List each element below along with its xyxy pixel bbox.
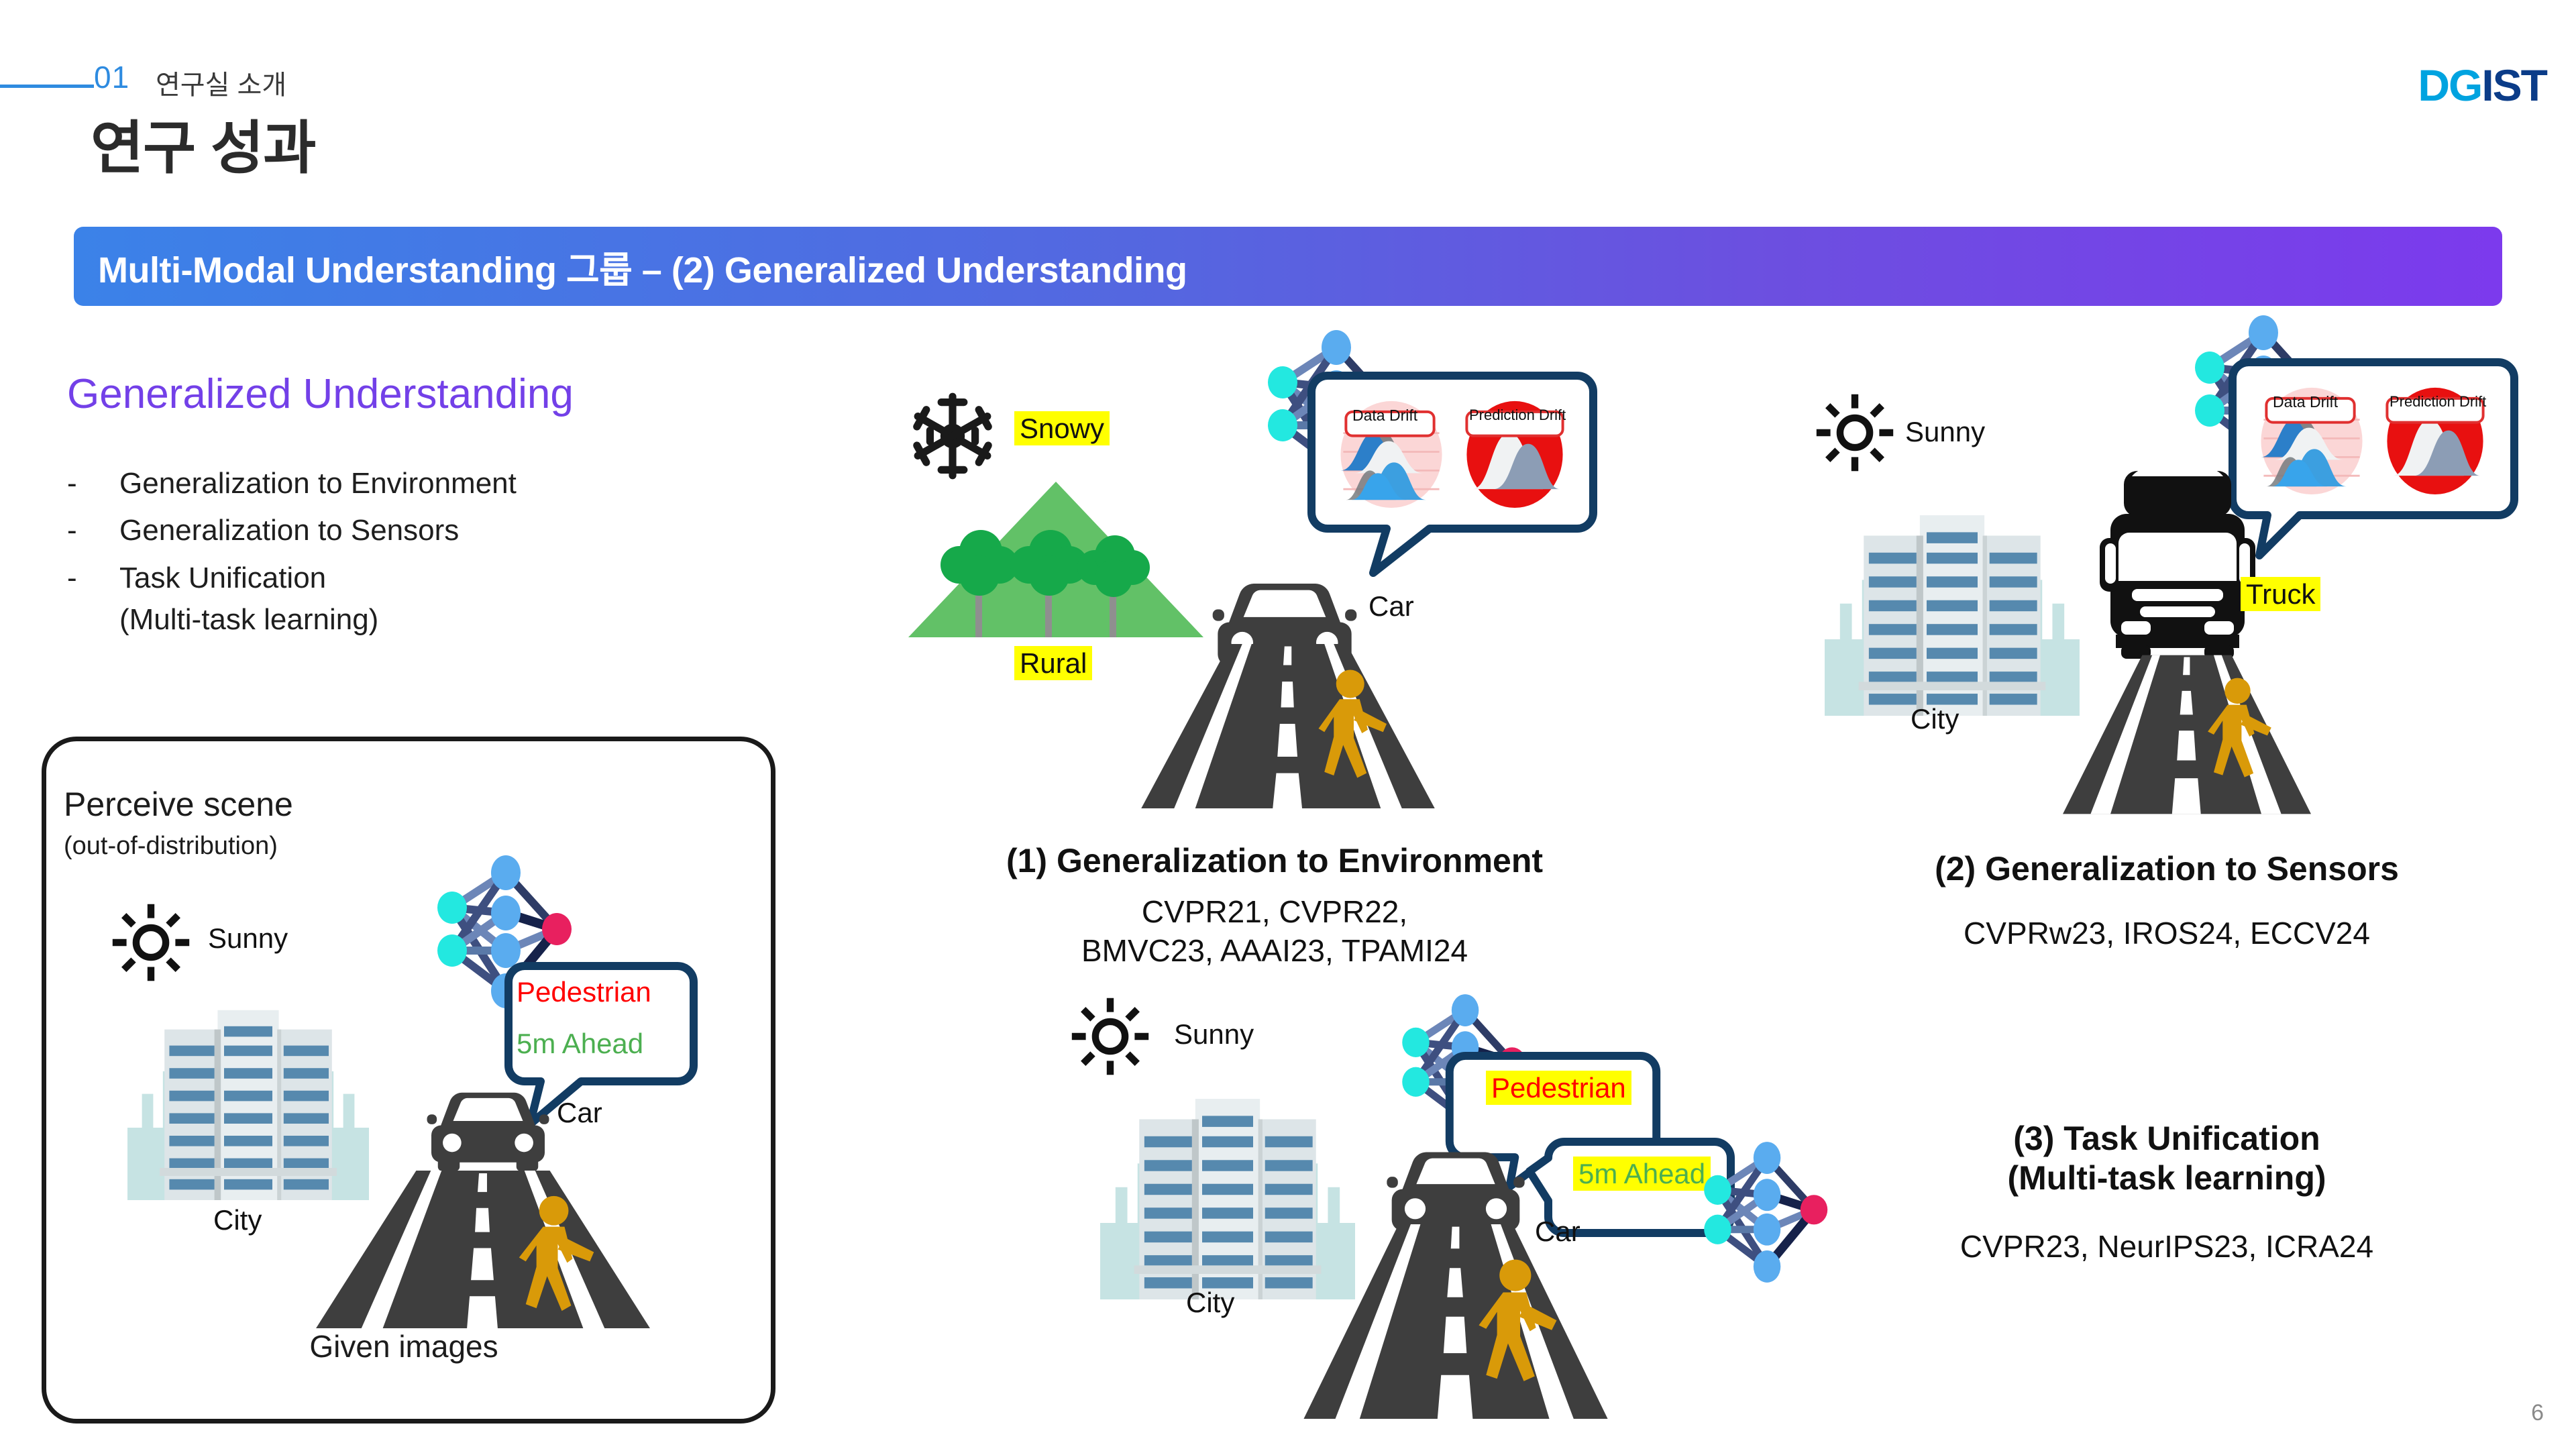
panel1-data-drift-label: Data Drift	[1352, 407, 1417, 425]
dgist-logo: DGIST	[2418, 63, 2546, 107]
generalized-understanding-heading: Generalized Understanding	[67, 370, 574, 418]
bullet-list: - Generalization to Environment - Genera…	[67, 463, 517, 647]
rural-mountain-icon	[906, 476, 1207, 644]
sun-icon	[107, 899, 195, 986]
panel1-weather-label: Snowy	[1014, 413, 1110, 445]
logo-dg-text: DG	[2418, 60, 2481, 110]
panel-bubble-line1: Pedestrian	[517, 976, 651, 1008]
heading-highlight	[67, 414, 698, 443]
panel2-caption-title: (2) Generalization to Sensors	[1838, 849, 2495, 889]
truck-icon	[2086, 463, 2267, 664]
road-icon	[2063, 654, 2311, 815]
panel3-weather-label: Sunny	[1174, 1018, 1254, 1051]
snowflake-icon	[906, 389, 1000, 483]
list-item: - Task Unification (Multi-task learning)	[67, 557, 517, 641]
panel2-vehicle-text: Truck	[2241, 577, 2320, 611]
bullet-dash: -	[67, 510, 119, 551]
slide-root: 01 연구실 소개 연구 성과 DGIST Multi-Modal Unders…	[0, 0, 2576, 1449]
bullet-text: Generalization to Environment	[119, 463, 517, 504]
perceive-scene-title: Perceive scene	[64, 785, 293, 824]
panel-scene-label: City	[213, 1204, 262, 1236]
sun-icon	[1067, 993, 1154, 1080]
logo-ist-text: IST	[2481, 60, 2546, 110]
section-banner: Multi-Modal Understanding 그룹 – (2) Gener…	[74, 227, 2502, 306]
neural-network-icon	[1690, 1134, 1845, 1298]
panel-bubble-line2: 5m Ahead	[517, 1028, 643, 1060]
panel2-scene-label: City	[1911, 703, 1959, 735]
section-label: 연구실 소개	[156, 63, 286, 102]
section-number: 01	[94, 59, 129, 95]
bullet-text: Generalization to Sensors	[119, 510, 459, 551]
road-icon	[1140, 644, 1436, 808]
road-icon	[1301, 1224, 1610, 1419]
panel2-caption-venues: CVPRw23, IROS24, ECCV24	[1838, 914, 2495, 953]
panel1-scene-text: Rural	[1014, 646, 1092, 680]
page-number: 6	[2531, 1400, 2544, 1426]
panel3-caption: (3) Task Unification (Multi-task learnin…	[1838, 1107, 2495, 1279]
panel2-data-drift-label: Data Drift	[2273, 393, 2338, 411]
panel2-prediction-drift-label: Prediction Drift	[2390, 393, 2486, 411]
header-rule	[0, 85, 94, 88]
bullet-dash: -	[67, 463, 119, 504]
panel1-prediction-drift-label: Prediction Drift	[1469, 407, 1566, 424]
panel-weather-label: Sunny	[208, 922, 288, 955]
page-title: 연구 성과	[91, 101, 315, 184]
panel1-caption: (1) Generalization to Environment CVPR21…	[953, 829, 1597, 982]
panel1-caption-venues: CVPR21, CVPR22, BMVC23, AAAI23, TPAMI24	[953, 893, 1597, 970]
panel2-caption: (2) Generalization to Sensors CVPRw23, I…	[1838, 837, 2495, 965]
panel-vehicle-label: Car	[557, 1097, 602, 1129]
list-item: - Generalization to Sensors	[67, 510, 517, 551]
city-icon	[1825, 510, 2080, 718]
panel-footer-label: Given images	[42, 1328, 766, 1364]
panel3-caption-venues: CVPR23, NeurIPS23, ICRA24	[1838, 1228, 2495, 1267]
list-item: - Generalization to Environment	[67, 463, 517, 504]
bullet-text: Task Unification (Multi-task learning)	[119, 557, 378, 641]
car-icon	[423, 1070, 553, 1181]
panel3-bubble1-label: Pedestrian	[1486, 1072, 1631, 1104]
banner-title: Multi-Modal Understanding 그룹 – (2) Gener…	[98, 240, 1187, 293]
perceive-scene-subtitle: (out-of-distribution)	[64, 832, 278, 861]
panel3-caption-title: (3) Task Unification (Multi-task learnin…	[1838, 1119, 2495, 1198]
panel1-vehicle-label: Car	[1368, 590, 1414, 623]
road-icon	[315, 1171, 651, 1328]
panel3-scene-label: City	[1186, 1287, 1234, 1319]
panel1-caption-title: (1) Generalization to Environment	[953, 841, 1597, 881]
panel1-weather-text: Snowy	[1014, 411, 1110, 445]
sun-icon	[1811, 389, 1898, 476]
panel3-bubble1-text: Pedestrian	[1486, 1071, 1631, 1105]
panel2-vehicle-label: Truck	[2241, 578, 2320, 610]
panel2-weather-label: Sunny	[1905, 416, 1985, 448]
panel1-scene-label: Rural	[1014, 647, 1092, 680]
bullet-dash: -	[67, 557, 119, 641]
